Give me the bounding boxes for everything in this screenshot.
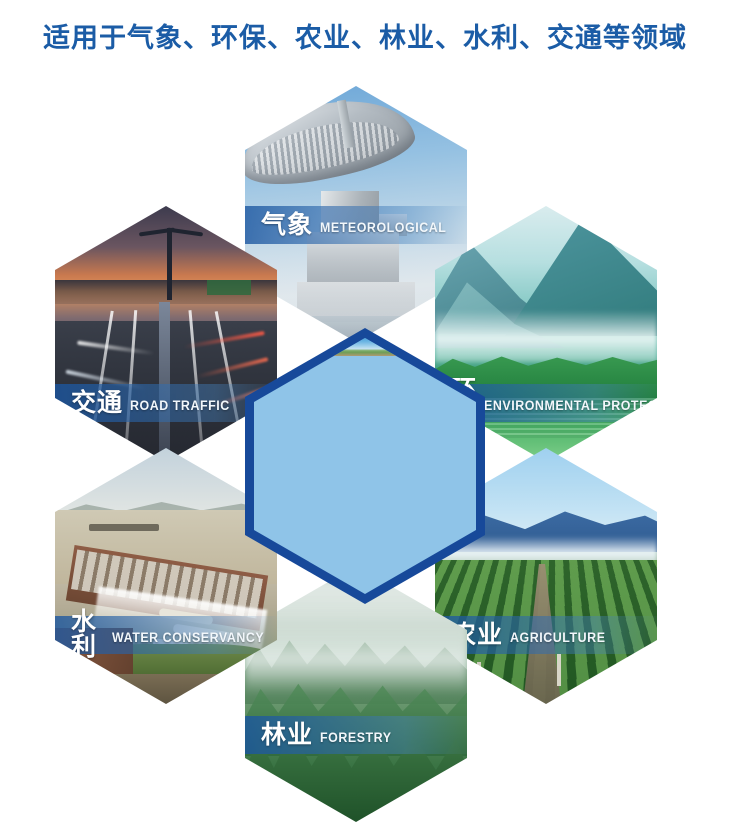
label-band-road-traffic: 交通 ROAD TRAFFIC (55, 384, 277, 422)
hex-card-water-conservancy[interactable]: 水利 WATER CONSERVANCY (55, 448, 277, 704)
label-band-agriculture: 农业 AGRICULTURE (435, 616, 657, 654)
road-traffic-photo (55, 206, 277, 462)
hex-label-en-agriculture: AGRICULTURE (510, 630, 606, 645)
hex-label-cn-meteorological: 气象 (261, 213, 313, 238)
hex-card-road-traffic[interactable]: 交通 ROAD TRAFFIC (55, 206, 277, 462)
label-band-water-conservancy: 水利 WATER CONSERVANCY (55, 616, 277, 654)
hex-label-cn-forestry: 林业 (261, 723, 313, 748)
hex-label-en-road-traffic: ROAD TRAFFIC (130, 398, 230, 413)
hex-label-en-forestry: FORESTRY (320, 730, 392, 745)
hex-card-forestry[interactable]: 林业 FORESTRY (245, 566, 467, 822)
hex-label-cn-water-conservancy: 水利 (71, 610, 105, 660)
label-band-meteorological: 气象 METEOROLOGICAL (245, 206, 467, 244)
hex-label-en-water-conservancy: WATER CONSERVANCY (112, 630, 264, 645)
hex-label-en-meteorological: METEOROLOGICAL (320, 220, 446, 235)
hexagon-grid: 气象 METEOROLOGICAL 交通 ROAD TRAFFIC 环保 ENV… (0, 78, 730, 816)
label-band-forestry: 林业 FORESTRY (245, 716, 467, 754)
center-hexagon-inner (254, 338, 476, 594)
forestry-photo (245, 566, 467, 822)
hex-label-en-environmental-protection: ENVIRONMENTAL PROTECTION (484, 398, 657, 413)
page-title: 适用于气象、环保、农业、林业、水利、交通等领域 (0, 16, 730, 55)
water-conservancy-photo (55, 448, 277, 704)
hex-card-meteorological[interactable]: 气象 METEOROLOGICAL (245, 86, 467, 342)
hex-label-cn-road-traffic: 交通 (71, 391, 123, 416)
